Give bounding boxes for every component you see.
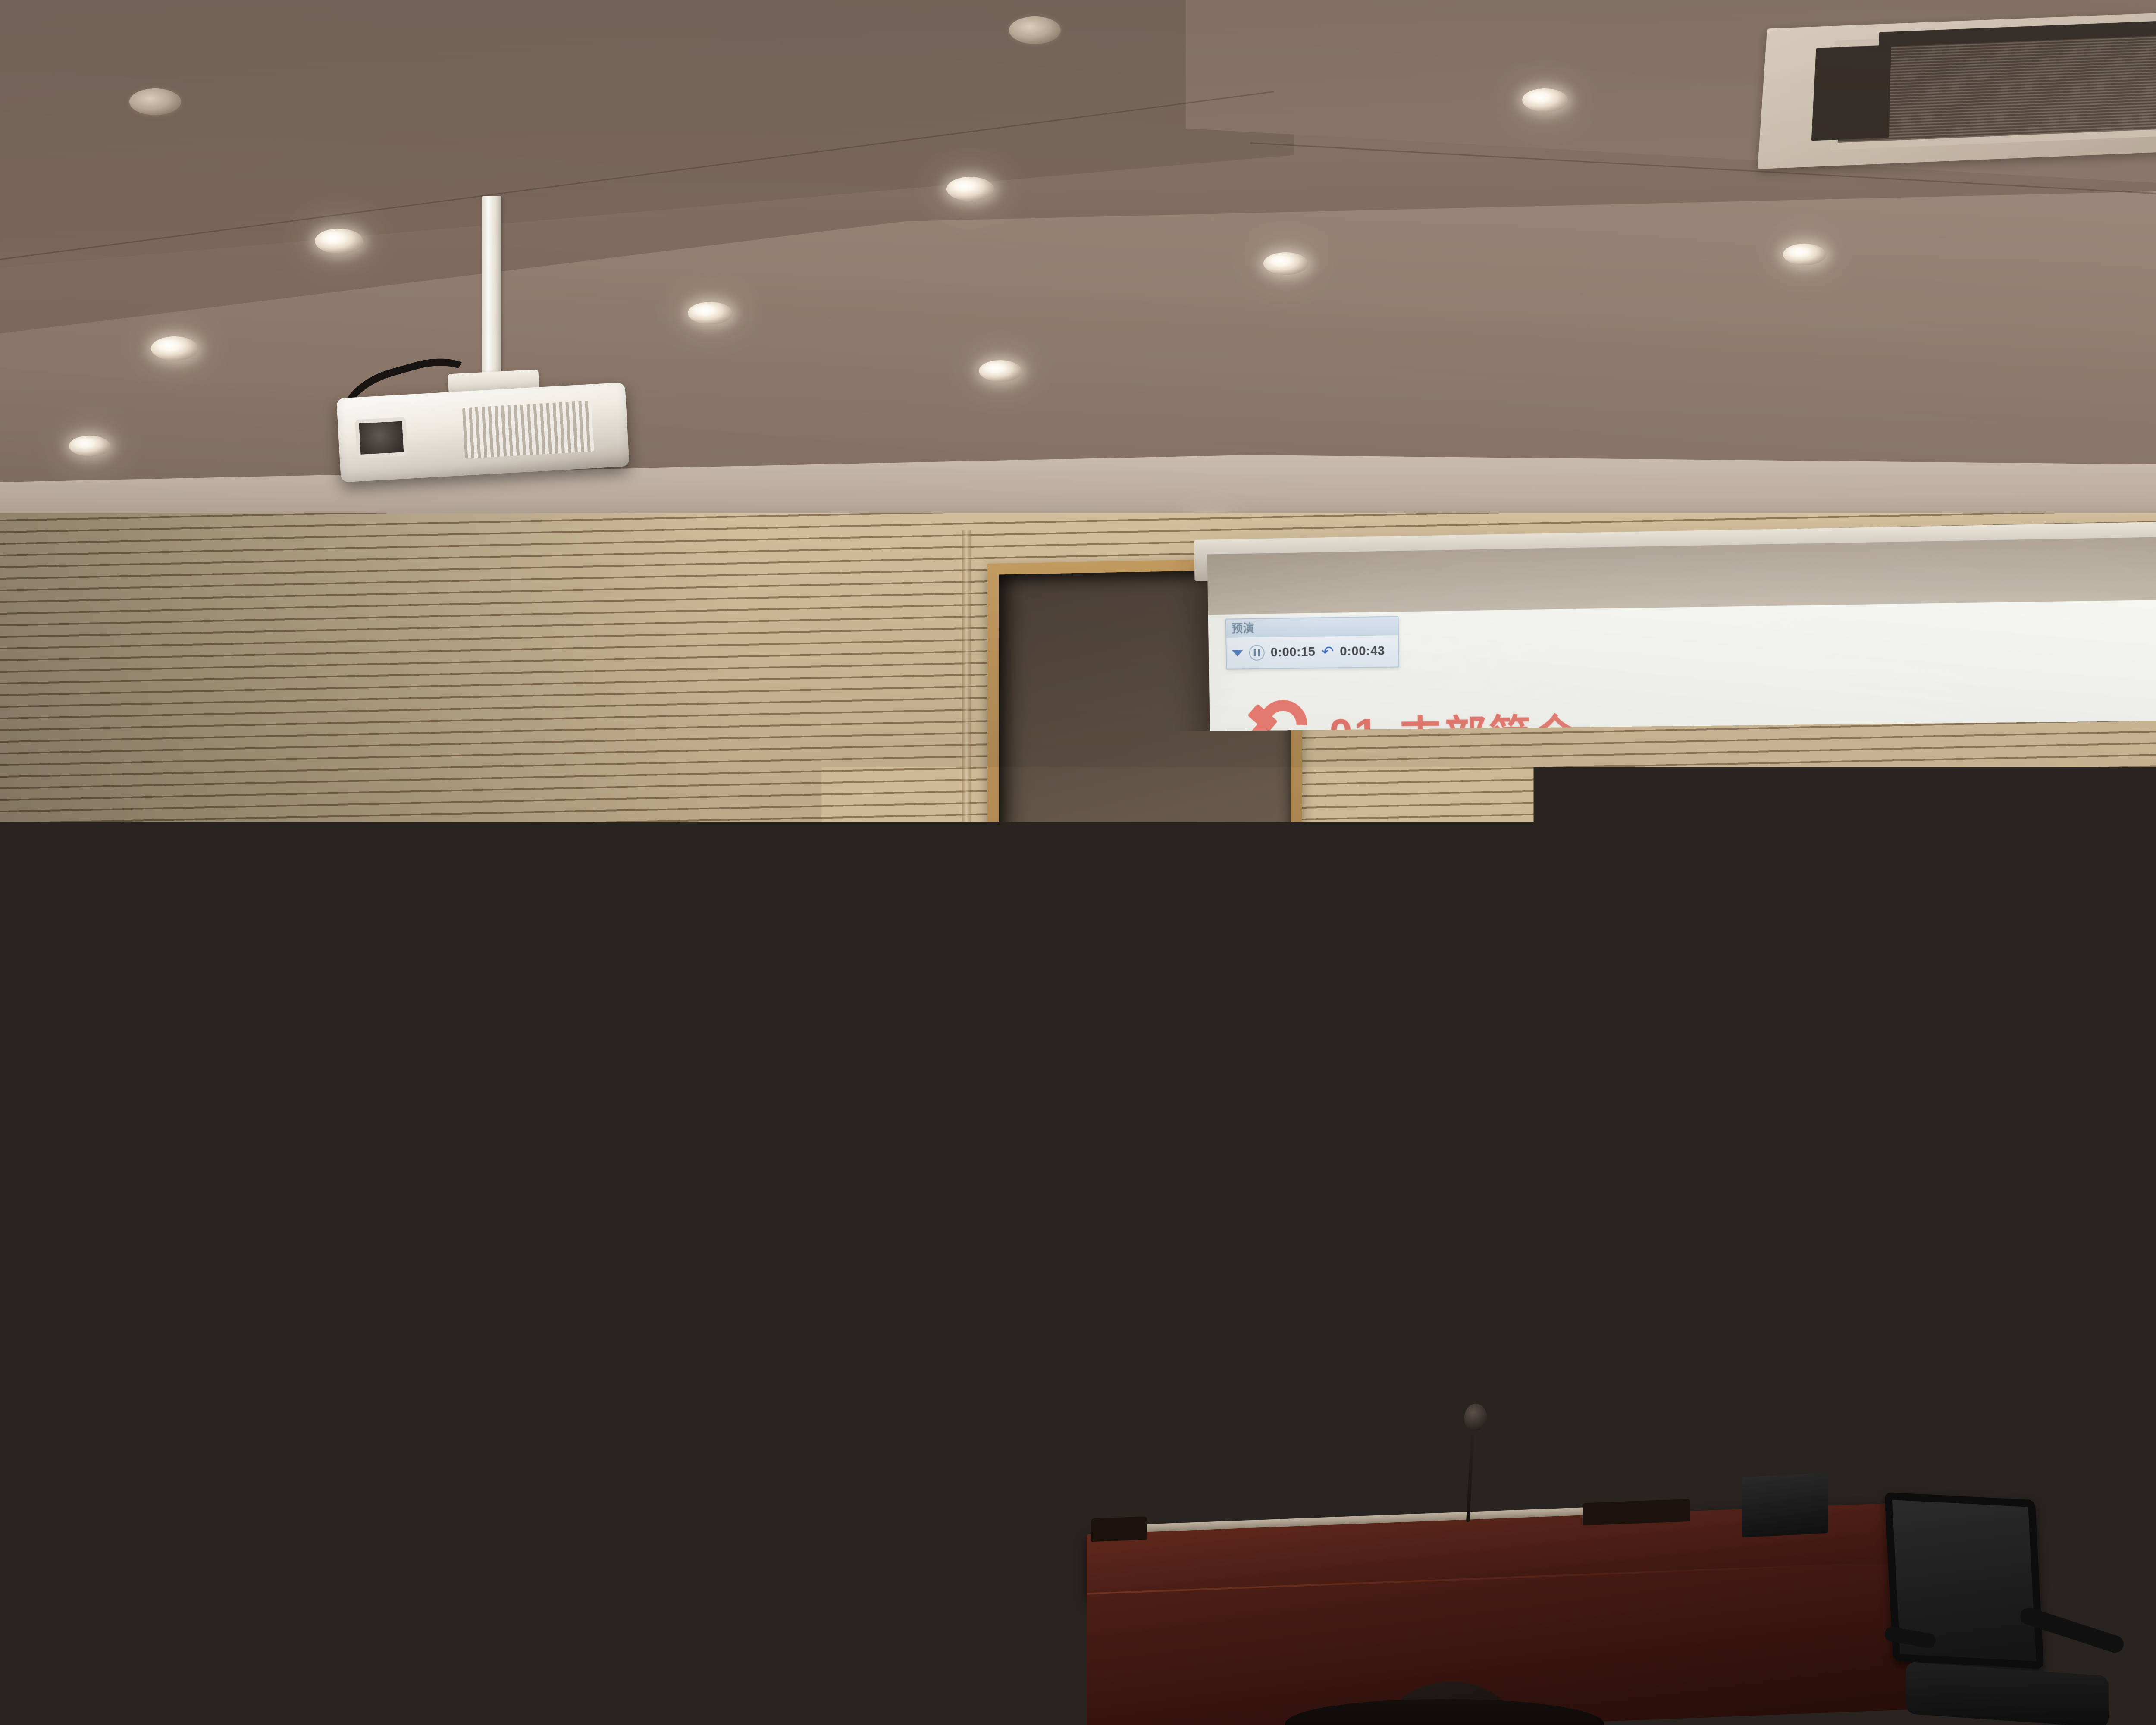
face-mask	[1430, 1246, 1456, 1265]
face-mask	[1440, 1121, 1464, 1139]
face-mask	[1355, 1240, 1381, 1259]
sickle-handle	[1247, 751, 1276, 768]
ceiling-light	[69, 436, 110, 456]
face-mask	[1493, 1116, 1517, 1133]
gooseneck-microphone-head	[880, 1345, 902, 1373]
list-item: ◆ 设党支部书记（袁明烨）、组织委员（柯凯丽）、宣传委员（陈子怡）	[1937, 1228, 2156, 1298]
hammer-and-sickle-icon	[147, 933, 328, 1164]
list-item: ◆ 组成：2021级硕士6、7班	[1933, 997, 2156, 1030]
bullet-marker-icon: ◆	[1934, 1096, 1951, 1126]
university-shield-icon	[1381, 859, 1432, 923]
ceiling-light	[1783, 244, 1826, 265]
presenter-bangs	[527, 1245, 623, 1289]
ceiling-light	[1522, 88, 1568, 112]
title-divider	[1247, 771, 2156, 784]
projector	[336, 382, 630, 482]
face-mask	[1709, 1126, 1733, 1143]
projection-screen[interactable]: 预演 0:00:15 ↶ 0:00:43	[1207, 530, 2156, 1436]
projector-mount-pole	[482, 196, 501, 382]
conference-room-scene: 预演 0:00:15 ↶ 0:00:43	[0, 0, 2156, 1725]
presenter-eye	[549, 1299, 563, 1303]
presenter-mouth	[566, 1322, 586, 1333]
sickle-handle	[160, 1085, 229, 1127]
lectern-notch	[940, 1420, 986, 1436]
presenter	[470, 1233, 694, 1725]
desk-block	[1091, 1516, 1147, 1542]
face-mask	[1601, 1115, 1625, 1133]
slide-chip-heading: 新环境 新同学	[1901, 790, 2156, 892]
school-name-en: School of Economics and Management	[1473, 1063, 1726, 1077]
party-emblem-icon	[1246, 699, 1311, 769]
desk-block	[1583, 1499, 1690, 1526]
ceiling-light	[946, 177, 994, 201]
face-mask	[1731, 1245, 1758, 1264]
presenter-hand	[608, 1419, 645, 1483]
page-title: 支部简介	[1398, 700, 1579, 764]
presenter-eyebrow	[547, 1288, 566, 1291]
face-mask	[1336, 1123, 1360, 1141]
ceiling-light	[688, 302, 733, 324]
lectern-notch	[698, 1426, 746, 1443]
ceiling-light	[315, 229, 363, 254]
presenter-hand	[568, 1431, 613, 1485]
chip-heading-text: 新环境 新同学	[2019, 812, 2156, 871]
gooseneck-microphone-head	[1464, 1403, 1487, 1431]
ceiling-light	[129, 88, 181, 115]
face-mask	[1655, 1122, 1680, 1139]
office-chair	[1858, 1496, 2156, 1725]
face-mask	[1547, 1119, 1571, 1137]
screen-surface: 预演 0:00:15 ↶ 0:00:43	[1207, 530, 2156, 1436]
party-flag	[73, 842, 720, 1267]
air-conditioner-vent	[1758, 4, 2156, 169]
presenter-eye	[587, 1298, 601, 1302]
bullet-marker-icon: ◆	[1933, 997, 1949, 1026]
bullet-marker-icon: ◆	[1937, 1228, 1953, 1257]
ceiling-light	[1263, 252, 1308, 275]
bullet-text: 设党支部书记（袁明烨）、组织委员（柯凯丽）、宣传委员（陈子怡）	[1965, 1228, 2156, 1299]
university-name-en: Southwest Jiaotong University	[1448, 906, 1630, 918]
photo-university-branding: 西南交通大学 Southwest Jiaotong University	[1381, 858, 1631, 923]
projector-vent	[462, 401, 594, 459]
photo-school-branding: 经济管理学院 School of Economics and Managemen…	[1383, 1003, 1726, 1078]
ac-vane	[1811, 45, 1891, 141]
school-name-cn: 经济管理学院	[1472, 1004, 1726, 1059]
group-photo: 西南交通大学 Southwest Jiaotong University 经济管…	[1250, 804, 1832, 1371]
presenter-eyebrow	[586, 1287, 605, 1290]
face-mask	[1387, 1117, 1411, 1135]
ceiling-light	[979, 360, 1022, 382]
conference-desk	[1087, 1502, 1932, 1725]
flag-plastic-wrap	[61, 831, 734, 889]
slide-title-row: 01 支部简介	[1246, 696, 1579, 769]
ceiling-light	[151, 336, 198, 361]
bullet-text: 9月支部成立时党员（含预备）共14名，现在17名	[1962, 1096, 2156, 1164]
microphone-band	[580, 1506, 604, 1520]
list-item: ◆ 9月支部成立时党员（含预备）共14名，现在17名	[1934, 1096, 2156, 1164]
school-seal-icon	[1383, 1003, 1458, 1077]
slide-section-number: 01	[1329, 709, 1380, 759]
projector-lens	[355, 417, 408, 458]
face-mask	[1657, 1248, 1683, 1267]
bullet-text: 组成：2021级硕士6、7班	[1961, 997, 2156, 1030]
chair-seat	[1906, 1662, 2109, 1725]
face-mask	[1506, 1244, 1532, 1262]
slide-content: 01 支部简介 西南交通大学 Southwest Jiaot	[1235, 599, 2156, 1424]
photo-ceiling-stripe	[1253, 856, 1311, 1038]
face-mask	[1582, 1240, 1608, 1259]
university-name-cn: 西南交通大学	[1447, 863, 1630, 903]
desk-monitor	[1742, 1473, 1828, 1537]
ceiling-light	[1009, 16, 1061, 44]
